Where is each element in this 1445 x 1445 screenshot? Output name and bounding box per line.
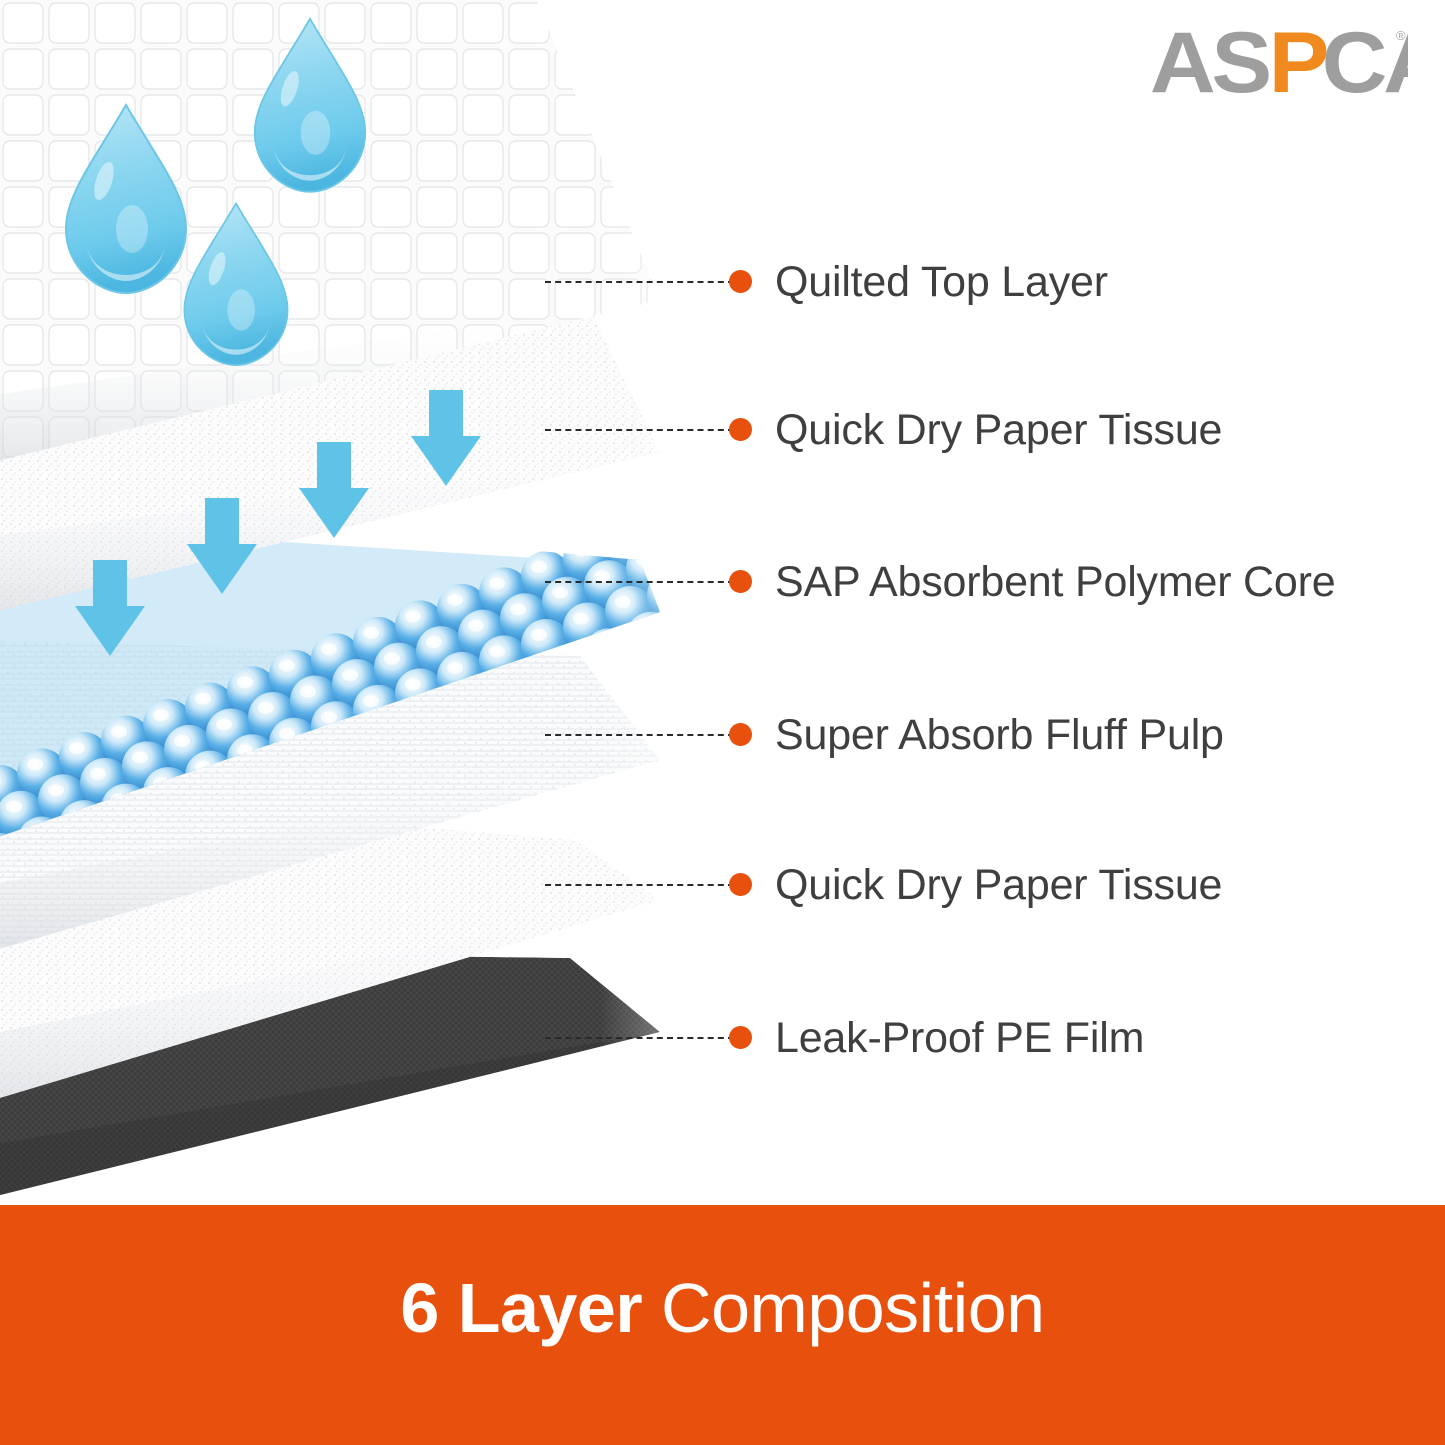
layer-stack-illustration (0, 0, 720, 1205)
sap-bead-highlight (258, 702, 274, 714)
sap-bead-highlight (405, 678, 421, 690)
callout-label: Quick Dry Paper Tissue (775, 401, 1222, 459)
leader-line (545, 884, 734, 886)
sap-bead-highlight (279, 660, 295, 672)
sap-bead-highlight (552, 587, 568, 599)
sap-bead-highlight (510, 603, 526, 615)
product-layer-infographic: A S P C A ® (0, 0, 1445, 1445)
sap-bead-highlight (27, 759, 43, 771)
sap-bead-highlight (174, 735, 190, 747)
leader-line (545, 429, 734, 431)
sap-bead-highlight (237, 676, 253, 688)
sap-bead-highlight (447, 662, 463, 674)
logo-letter-a1: A (1152, 18, 1214, 108)
callout-dot (729, 270, 752, 293)
leader-line (545, 734, 734, 736)
leader-line (545, 281, 734, 283)
sap-bead-highlight (426, 636, 442, 648)
callout-dot (729, 570, 752, 593)
sap-bead-highlight (132, 751, 148, 763)
sap-bead-highlight (573, 613, 589, 625)
callout-label: Quilted Top Layer (775, 253, 1108, 311)
sap-bead-highlight (531, 561, 547, 573)
sap-bead-highlight (111, 726, 127, 738)
sap-bead-highlight (489, 577, 505, 589)
banner-headline: 6 Layer Composition (0, 1265, 1445, 1351)
callout-label: Quick Dry Paper Tissue (775, 856, 1222, 914)
sap-bead-highlight (195, 693, 211, 705)
sap-bead-highlight (153, 709, 169, 721)
callout-dot (729, 1026, 752, 1049)
sap-bead-highlight (321, 643, 337, 655)
banner-headline-regular: Composition (642, 1269, 1045, 1347)
logo-letter-c: C (1322, 18, 1386, 108)
logo-letter-p: P (1269, 18, 1328, 108)
callout-label: SAP Absorbent Polymer Core (775, 553, 1335, 611)
aspca-logo: A S P C A ® (1152, 18, 1408, 108)
sap-bead-highlight (405, 610, 421, 622)
sap-bead-highlight (90, 768, 106, 780)
callout-dot (729, 418, 752, 441)
banner-headline-bold: 6 Layer (400, 1269, 642, 1347)
callout-label: Leak-Proof PE Film (775, 1009, 1144, 1067)
sap-bead-highlight (363, 695, 379, 707)
callout-dot (729, 873, 752, 896)
sap-bead-highlight (48, 784, 64, 796)
sap-bead-highlight (69, 742, 85, 754)
sap-bead-highlight (447, 594, 463, 606)
callout-dot (729, 723, 752, 746)
sap-bead-highlight (531, 629, 547, 641)
sap-bead-highlight (363, 627, 379, 639)
sap-bead-highlight (300, 686, 316, 698)
sap-bead-highlight (573, 545, 589, 557)
registered-trademark-icon: ® (1396, 28, 1406, 43)
sap-bead-highlight (384, 653, 400, 665)
sap-bead-highlight (342, 669, 358, 681)
leader-line (545, 581, 734, 583)
sap-bead-highlight (489, 645, 505, 657)
sap-bead-highlight (216, 718, 232, 730)
bottom-banner: 6 Layer Composition (0, 1205, 1445, 1445)
sap-bead-highlight (6, 801, 22, 813)
leader-line (545, 1037, 734, 1039)
logo-letter-s: S (1211, 18, 1269, 108)
sap-bead-highlight (321, 711, 337, 723)
sap-bead-highlight (468, 620, 484, 632)
callout-label: Super Absorb Fluff Pulp (775, 706, 1224, 764)
